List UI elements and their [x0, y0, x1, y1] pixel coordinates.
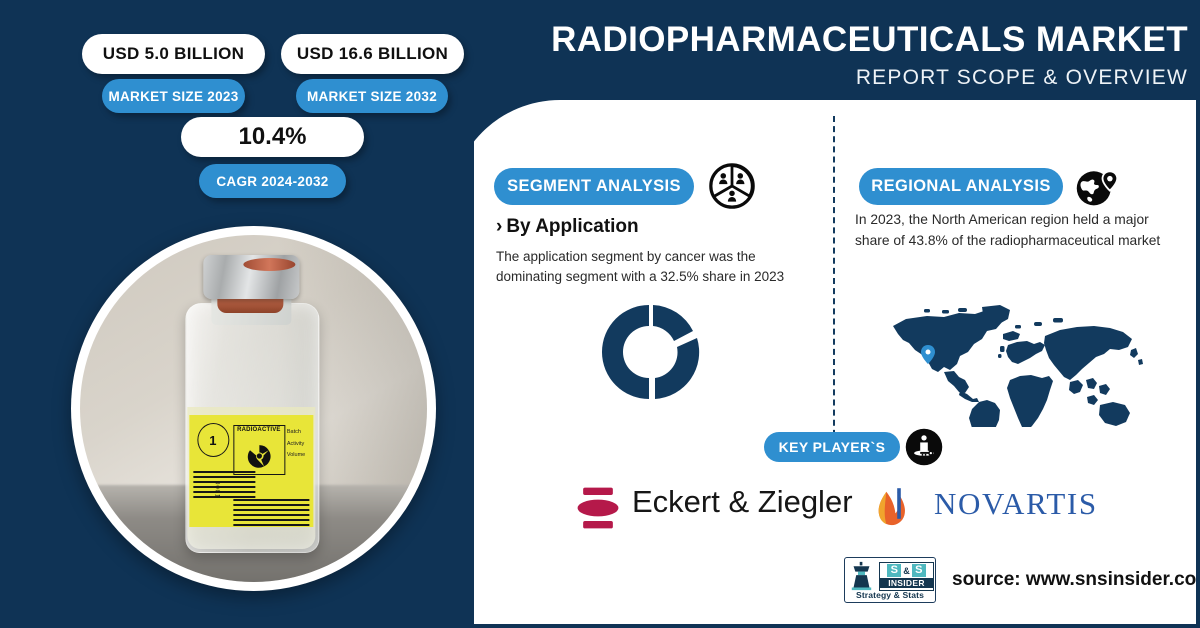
sns-tower-icon — [848, 561, 875, 591]
sns-ampersand: & — [903, 566, 910, 576]
vial-metal-cap — [203, 255, 299, 299]
globe-pin-icon — [1074, 163, 1120, 209]
world-map — [884, 302, 1154, 427]
vial-label-number: 1 — [197, 423, 229, 457]
vial-septum — [217, 297, 283, 313]
radioactive-trefoil-icon — [246, 443, 272, 469]
tab-segment-analysis[interactable]: SEGMENT ANALYSIS — [494, 168, 694, 205]
vial-yellow-label: 1 RADIOACTIVE Batch Activity Volu — [189, 415, 313, 527]
stat-label-cagr: CAGR 2024-2032 — [199, 164, 346, 198]
sns-insider-badge: S & S INSIDER — [879, 562, 934, 591]
stat-label-market-size-2023: MARKET SIZE 2023 — [102, 79, 245, 113]
radioactive-vial-image: 1 RADIOACTIVE Batch Activity Volu — [71, 226, 436, 591]
sns-s-left: S — [887, 564, 901, 577]
person-key-icon — [905, 428, 943, 466]
page-title: RADIOPHARMACEUTICALS MARKET — [544, 22, 1188, 59]
vial-field-volume: Volume — [287, 450, 305, 462]
novartis-wordmark: NOVARTIS — [934, 486, 1098, 522]
vial-field-activity: Activity — [287, 439, 305, 451]
regional-description: In 2023, the North American region held … — [855, 210, 1165, 251]
vial-field-batch: Batch — [287, 427, 305, 439]
stat-value-market-size-2023: USD 5.0 BILLION — [82, 34, 265, 74]
page-subtitle: REPORT SCOPE & OVERVIEW — [544, 66, 1188, 90]
sns-insider-text: INSIDER — [880, 578, 933, 588]
header-title-block: RADIOPHARMACEUTICALS MARKET REPORT SCOPE… — [544, 22, 1188, 90]
sns-s-and-s-row: S & S — [880, 563, 933, 577]
vial-bottle: 1 RADIOACTIVE Batch Activity Volu — [185, 255, 317, 555]
vial-radioactive-box: RADIOACTIVE — [233, 425, 285, 475]
logo-novartis: NOVARTIS — [872, 482, 1117, 534]
vial-label-fields: Batch Activity Volume — [287, 427, 305, 462]
vertical-dashed-divider — [833, 116, 835, 446]
segment-subheading: ›By Application — [496, 216, 639, 238]
segment-subheading-text: By Application — [506, 216, 638, 237]
chevron-right-icon: › — [496, 216, 502, 237]
footer-source: S & S INSIDER Strategy & Stats source: w… — [844, 556, 1200, 604]
vial-radioactive-text: RADIOACTIVE — [234, 427, 284, 433]
logo-eckert-ziegler: Eckert & Ziegler — [572, 482, 860, 534]
vial-label-barcode-bottom — [233, 499, 309, 527]
source-url: source: www.snsinsider.com — [952, 569, 1200, 591]
segment-donut-chart — [601, 302, 701, 402]
stat-value-market-size-2032: USD 16.6 BILLION — [281, 34, 464, 74]
vial-label-tab-top — [229, 415, 291, 417]
segment-description: The application segment by cancer was th… — [496, 247, 796, 286]
stat-label-market-size-2032: MARKET SIZE 2032 — [296, 79, 448, 113]
infographic-frame: RADIOPHARMACEUTICALS MARKET REPORT SCOPE… — [0, 0, 1200, 628]
novartis-flame-mark — [872, 482, 926, 534]
sns-s-right: S — [912, 564, 926, 577]
eckert-ziegler-mark — [572, 482, 624, 534]
vial-label-barcode-top — [193, 471, 255, 501]
sns-insider-logo: S & S INSIDER Strategy & Stats — [844, 557, 936, 603]
tab-regional-analysis[interactable]: REGIONAL ANALYSIS — [859, 168, 1063, 205]
segment-people-pie-icon — [709, 163, 755, 209]
stat-value-cagr: 10.4% — [181, 117, 364, 157]
eckert-ziegler-wordmark: Eckert & Ziegler — [632, 484, 853, 520]
vial-cap-center — [243, 258, 295, 271]
tab-key-players[interactable]: KEY PLAYER`S — [764, 432, 900, 462]
sns-tagline: Strategy & Stats — [845, 590, 935, 600]
vial-photo-inner: 1 RADIOACTIVE Batch Activity Volu — [80, 235, 427, 582]
